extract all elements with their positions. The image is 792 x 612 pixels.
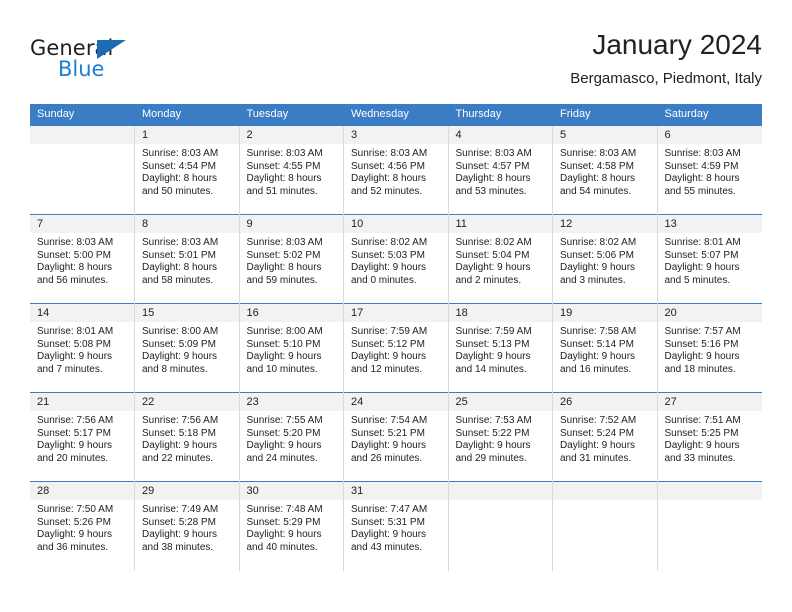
daylight-text-line2: and 52 minutes. [351,186,442,199]
daylight-text-line1: Daylight: 8 hours [142,173,233,186]
sunset-text: Sunset: 5:24 PM [560,428,651,441]
calendar-day-cell[interactable]: 8Sunrise: 8:03 AMSunset: 5:01 PMDaylight… [135,215,240,304]
sunset-text: Sunset: 5:29 PM [247,517,338,530]
day-number: 28 [30,482,134,500]
day-info: Sunrise: 7:47 AMSunset: 5:31 PMDaylight:… [344,500,448,554]
calendar-week-row: 14Sunrise: 8:01 AMSunset: 5:08 PMDayligh… [30,304,762,393]
day-info: Sunrise: 7:56 AMSunset: 5:17 PMDaylight:… [30,411,134,465]
sunrise-text: Sunrise: 7:56 AM [37,415,128,428]
daylight-text-line1: Daylight: 9 hours [142,351,233,364]
daylight-text-line2: and 50 minutes. [142,186,233,199]
weekday-header-friday: Friday [553,104,658,126]
title-block: January 2024 Bergamasco, Piedmont, Italy [570,28,762,90]
sunset-text: Sunset: 5:28 PM [142,517,233,530]
sunrise-text: Sunrise: 7:59 AM [351,326,442,339]
sunrise-text: Sunrise: 8:03 AM [247,237,338,250]
sunset-text: Sunset: 5:06 PM [560,250,651,263]
day-info: Sunrise: 8:03 AMSunset: 4:54 PMDaylight:… [135,144,239,198]
daylight-text-line1: Daylight: 8 hours [247,173,338,186]
sunset-text: Sunset: 5:18 PM [142,428,233,441]
day-info: Sunrise: 7:57 AMSunset: 5:16 PMDaylight:… [658,322,762,376]
daylight-text-line2: and 0 minutes. [351,275,442,288]
day-number: 3 [344,126,448,144]
sunset-text: Sunset: 5:14 PM [560,339,651,352]
daylight-text-line1: Daylight: 8 hours [456,173,547,186]
day-info: Sunrise: 8:03 AMSunset: 4:58 PMDaylight:… [553,144,657,198]
daylight-text-line2: and 14 minutes. [456,364,547,377]
sunrise-text: Sunrise: 8:03 AM [560,148,651,161]
sunrise-text: Sunrise: 8:01 AM [37,326,128,339]
calendar-day-cell[interactable]: 26Sunrise: 7:52 AMSunset: 5:24 PMDayligh… [553,393,658,482]
sunrise-text: Sunrise: 7:57 AM [665,326,756,339]
daylight-text-line2: and 3 minutes. [560,275,651,288]
daylight-text-line1: Daylight: 8 hours [665,173,756,186]
sunset-text: Sunset: 4:56 PM [351,161,442,174]
day-number: 27 [658,393,762,411]
day-number: 17 [344,304,448,322]
day-info: Sunrise: 8:03 AMSunset: 4:59 PMDaylight:… [658,144,762,198]
day-info: Sunrise: 8:00 AMSunset: 5:10 PMDaylight:… [240,322,344,376]
day-number [30,126,134,144]
sunrise-text: Sunrise: 8:03 AM [37,237,128,250]
sunrise-text: Sunrise: 7:58 AM [560,326,651,339]
calendar-day-cell[interactable]: 15Sunrise: 8:00 AMSunset: 5:09 PMDayligh… [135,304,240,393]
calendar-day-cell[interactable]: 9Sunrise: 8:03 AMSunset: 5:02 PMDaylight… [239,215,344,304]
sunrise-text: Sunrise: 7:48 AM [247,504,338,517]
calendar-day-cell[interactable]: 19Sunrise: 7:58 AMSunset: 5:14 PMDayligh… [553,304,658,393]
sunset-text: Sunset: 5:12 PM [351,339,442,352]
calendar-day-cell[interactable]: 17Sunrise: 7:59 AMSunset: 5:12 PMDayligh… [344,304,449,393]
day-number: 19 [553,304,657,322]
page-header: General Blue January 2024 Bergamasco, Pi… [30,28,762,100]
weekday-header-monday: Monday [135,104,240,126]
sunrise-text: Sunrise: 8:02 AM [560,237,651,250]
day-number: 29 [135,482,239,500]
daylight-text-line1: Daylight: 8 hours [37,262,128,275]
day-number: 5 [553,126,657,144]
daylight-text-line1: Daylight: 9 hours [665,262,756,275]
sunrise-text: Sunrise: 7:54 AM [351,415,442,428]
calendar-week-row: 28Sunrise: 7:50 AMSunset: 5:26 PMDayligh… [30,482,762,571]
day-number [553,482,657,500]
sunrise-text: Sunrise: 7:47 AM [351,504,442,517]
daylight-text-line2: and 59 minutes. [247,275,338,288]
day-number: 23 [240,393,344,411]
daylight-text-line1: Daylight: 9 hours [37,351,128,364]
daylight-text-line2: and 18 minutes. [665,364,756,377]
daylight-text-line2: and 12 minutes. [351,364,442,377]
day-info: Sunrise: 8:01 AMSunset: 5:08 PMDaylight:… [30,322,134,376]
day-info: Sunrise: 8:02 AMSunset: 5:06 PMDaylight:… [553,233,657,287]
day-info: Sunrise: 8:03 AMSunset: 4:55 PMDaylight:… [240,144,344,198]
daylight-text-line2: and 20 minutes. [37,453,128,466]
weekday-header-tuesday: Tuesday [239,104,344,126]
calendar-day-cell[interactable]: 24Sunrise: 7:54 AMSunset: 5:21 PMDayligh… [344,393,449,482]
day-number: 22 [135,393,239,411]
daylight-text-line1: Daylight: 9 hours [37,440,128,453]
day-info: Sunrise: 7:59 AMSunset: 5:13 PMDaylight:… [449,322,553,376]
daylight-text-line2: and 43 minutes. [351,542,442,555]
day-number: 6 [658,126,762,144]
sunset-text: Sunset: 5:26 PM [37,517,128,530]
daylight-text-line1: Daylight: 9 hours [351,262,442,275]
daylight-text-line2: and 31 minutes. [560,453,651,466]
daylight-text-line1: Daylight: 9 hours [351,529,442,542]
daylight-text-line1: Daylight: 9 hours [247,351,338,364]
daylight-text-line2: and 33 minutes. [665,453,756,466]
sunset-text: Sunset: 4:57 PM [456,161,547,174]
daylight-text-line1: Daylight: 8 hours [560,173,651,186]
day-number: 10 [344,215,448,233]
daylight-text-line2: and 53 minutes. [456,186,547,199]
day-info: Sunrise: 8:02 AMSunset: 5:04 PMDaylight:… [449,233,553,287]
day-info: Sunrise: 8:03 AMSunset: 5:00 PMDaylight:… [30,233,134,287]
day-info: Sunrise: 8:03 AMSunset: 4:57 PMDaylight:… [449,144,553,198]
daylight-text-line1: Daylight: 9 hours [560,262,651,275]
day-number: 18 [449,304,553,322]
daylight-text-line2: and 24 minutes. [247,453,338,466]
day-number: 7 [30,215,134,233]
logo-word-blue: Blue [58,57,104,81]
sunrise-text: Sunrise: 8:03 AM [351,148,442,161]
day-number: 26 [553,393,657,411]
sunset-text: Sunset: 5:17 PM [37,428,128,441]
sunrise-text: Sunrise: 8:01 AM [665,237,756,250]
calendar-day-cell-empty [657,482,762,571]
sunset-text: Sunset: 5:03 PM [351,250,442,263]
day-info: Sunrise: 8:02 AMSunset: 5:03 PMDaylight:… [344,233,448,287]
sunrise-text: Sunrise: 8:03 AM [665,148,756,161]
calendar-grid: Sunday Monday Tuesday Wednesday Thursday… [30,104,762,571]
calendar-day-cell[interactable]: 6Sunrise: 8:03 AMSunset: 4:59 PMDaylight… [657,126,762,215]
day-number [658,482,762,500]
sunrise-text: Sunrise: 7:52 AM [560,415,651,428]
daylight-text-line2: and 40 minutes. [247,542,338,555]
sunset-text: Sunset: 5:20 PM [247,428,338,441]
daylight-text-line2: and 29 minutes. [456,453,547,466]
day-number: 12 [553,215,657,233]
daylight-text-line2: and 58 minutes. [142,275,233,288]
calendar-day-cell[interactable]: 20Sunrise: 7:57 AMSunset: 5:16 PMDayligh… [657,304,762,393]
daylight-text-line2: and 38 minutes. [142,542,233,555]
sunrise-text: Sunrise: 8:00 AM [247,326,338,339]
day-number: 15 [135,304,239,322]
day-number: 30 [240,482,344,500]
calendar-body: 1Sunrise: 8:03 AMSunset: 4:54 PMDaylight… [30,126,762,571]
sunrise-text: Sunrise: 7:51 AM [665,415,756,428]
day-number: 24 [344,393,448,411]
calendar-day-cell-empty [30,126,135,215]
day-info: Sunrise: 7:54 AMSunset: 5:21 PMDaylight:… [344,411,448,465]
daylight-text-line1: Daylight: 9 hours [456,440,547,453]
calendar-day-cell[interactable]: 4Sunrise: 8:03 AMSunset: 4:57 PMDaylight… [448,126,553,215]
day-info: Sunrise: 7:55 AMSunset: 5:20 PMDaylight:… [240,411,344,465]
sunrise-text: Sunrise: 8:03 AM [247,148,338,161]
daylight-text-line2: and 2 minutes. [456,275,547,288]
sunrise-text: Sunrise: 7:49 AM [142,504,233,517]
calendar-day-cell-empty [553,482,658,571]
daylight-text-line2: and 8 minutes. [142,364,233,377]
day-info: Sunrise: 7:58 AMSunset: 5:14 PMDaylight:… [553,322,657,376]
weekday-header-thursday: Thursday [448,104,553,126]
day-number: 4 [449,126,553,144]
day-number: 20 [658,304,762,322]
daylight-text-line1: Daylight: 9 hours [456,351,547,364]
daylight-text-line1: Daylight: 9 hours [247,440,338,453]
calendar-day-cell[interactable]: 12Sunrise: 8:02 AMSunset: 5:06 PMDayligh… [553,215,658,304]
sunrise-text: Sunrise: 8:02 AM [456,237,547,250]
day-number: 11 [449,215,553,233]
sunset-text: Sunset: 4:54 PM [142,161,233,174]
day-info: Sunrise: 8:01 AMSunset: 5:07 PMDaylight:… [658,233,762,287]
sunset-text: Sunset: 4:55 PM [247,161,338,174]
sunset-text: Sunset: 5:01 PM [142,250,233,263]
day-number: 2 [240,126,344,144]
daylight-text-line1: Daylight: 8 hours [142,262,233,275]
daylight-text-line2: and 55 minutes. [665,186,756,199]
daylight-text-line1: Daylight: 9 hours [665,351,756,364]
daylight-text-line2: and 22 minutes. [142,453,233,466]
calendar-day-cell[interactable]: 2Sunrise: 8:03 AMSunset: 4:55 PMDaylight… [239,126,344,215]
calendar-day-cell[interactable]: 5Sunrise: 8:03 AMSunset: 4:58 PMDaylight… [553,126,658,215]
calendar-day-cell[interactable]: 23Sunrise: 7:55 AMSunset: 5:20 PMDayligh… [239,393,344,482]
daylight-text-line1: Daylight: 9 hours [560,351,651,364]
daylight-text-line1: Daylight: 9 hours [37,529,128,542]
day-number: 13 [658,215,762,233]
sunset-text: Sunset: 5:04 PM [456,250,547,263]
sunrise-text: Sunrise: 7:59 AM [456,326,547,339]
day-number: 8 [135,215,239,233]
sunset-text: Sunset: 5:16 PM [665,339,756,352]
day-number: 21 [30,393,134,411]
daylight-text-line1: Daylight: 9 hours [351,351,442,364]
day-info: Sunrise: 7:53 AMSunset: 5:22 PMDaylight:… [449,411,553,465]
calendar-day-cell[interactable]: 22Sunrise: 7:56 AMSunset: 5:18 PMDayligh… [135,393,240,482]
day-number: 25 [449,393,553,411]
weekday-header-saturday: Saturday [657,104,762,126]
daylight-text-line1: Daylight: 8 hours [247,262,338,275]
day-info: Sunrise: 7:48 AMSunset: 5:29 PMDaylight:… [240,500,344,554]
sunset-text: Sunset: 4:59 PM [665,161,756,174]
sunset-text: Sunset: 5:00 PM [37,250,128,263]
daylight-text-line2: and 10 minutes. [247,364,338,377]
day-number: 16 [240,304,344,322]
day-number: 1 [135,126,239,144]
sunset-text: Sunset: 5:07 PM [665,250,756,263]
daylight-text-line2: and 56 minutes. [37,275,128,288]
calendar-week-row: 1Sunrise: 8:03 AMSunset: 4:54 PMDaylight… [30,126,762,215]
calendar-day-cell[interactable]: 3Sunrise: 8:03 AMSunset: 4:56 PMDaylight… [344,126,449,215]
calendar-page: General Blue January 2024 Bergamasco, Pi… [0,0,792,612]
sunrise-text: Sunrise: 8:03 AM [142,237,233,250]
day-info: Sunrise: 7:49 AMSunset: 5:28 PMDaylight:… [135,500,239,554]
sunset-text: Sunset: 5:25 PM [665,428,756,441]
calendar-week-row: 21Sunrise: 7:56 AMSunset: 5:17 PMDayligh… [30,393,762,482]
day-info: Sunrise: 7:51 AMSunset: 5:25 PMDaylight:… [658,411,762,465]
sunrise-text: Sunrise: 8:00 AM [142,326,233,339]
calendar-day-cell[interactable]: 25Sunrise: 7:53 AMSunset: 5:22 PMDayligh… [448,393,553,482]
general-blue-logo: General Blue [30,36,160,90]
day-info: Sunrise: 7:50 AMSunset: 5:26 PMDaylight:… [30,500,134,554]
day-number [449,482,553,500]
daylight-text-line1: Daylight: 9 hours [560,440,651,453]
daylight-text-line2: and 5 minutes. [665,275,756,288]
calendar-day-cell[interactable]: 1Sunrise: 8:03 AMSunset: 4:54 PMDaylight… [135,126,240,215]
daylight-text-line1: Daylight: 9 hours [142,529,233,542]
daylight-text-line1: Daylight: 9 hours [247,529,338,542]
daylight-text-line2: and 51 minutes. [247,186,338,199]
daylight-text-line1: Daylight: 9 hours [142,440,233,453]
sunset-text: Sunset: 5:13 PM [456,339,547,352]
sunrise-text: Sunrise: 7:56 AM [142,415,233,428]
sunset-text: Sunset: 5:02 PM [247,250,338,263]
daylight-text-line1: Daylight: 9 hours [665,440,756,453]
page-title: January 2024 [570,28,762,62]
day-info: Sunrise: 8:00 AMSunset: 5:09 PMDaylight:… [135,322,239,376]
day-info: Sunrise: 8:03 AMSunset: 4:56 PMDaylight:… [344,144,448,198]
sunrise-text: Sunrise: 7:50 AM [37,504,128,517]
calendar-day-cell[interactable]: 10Sunrise: 8:02 AMSunset: 5:03 PMDayligh… [344,215,449,304]
daylight-text-line1: Daylight: 9 hours [351,440,442,453]
sunset-text: Sunset: 4:58 PM [560,161,651,174]
sunset-text: Sunset: 5:08 PM [37,339,128,352]
calendar-week-row: 7Sunrise: 8:03 AMSunset: 5:00 PMDaylight… [30,215,762,304]
daylight-text-line2: and 36 minutes. [37,542,128,555]
calendar-day-cell[interactable]: 31Sunrise: 7:47 AMSunset: 5:31 PMDayligh… [344,482,449,571]
calendar-day-cell[interactable]: 30Sunrise: 7:48 AMSunset: 5:29 PMDayligh… [239,482,344,571]
daylight-text-line2: and 16 minutes. [560,364,651,377]
calendar-day-cell[interactable]: 14Sunrise: 8:01 AMSunset: 5:08 PMDayligh… [30,304,135,393]
calendar-day-cell[interactable]: 27Sunrise: 7:51 AMSunset: 5:25 PMDayligh… [657,393,762,482]
day-info: Sunrise: 8:03 AMSunset: 5:02 PMDaylight:… [240,233,344,287]
sunset-text: Sunset: 5:09 PM [142,339,233,352]
daylight-text-line2: and 7 minutes. [37,364,128,377]
calendar-table: Sunday Monday Tuesday Wednesday Thursday… [30,104,762,571]
weekday-header-sunday: Sunday [30,104,135,126]
sunrise-text: Sunrise: 7:53 AM [456,415,547,428]
weekday-header-wednesday: Wednesday [344,104,449,126]
calendar-day-cell[interactable]: 7Sunrise: 8:03 AMSunset: 5:00 PMDaylight… [30,215,135,304]
sunset-text: Sunset: 5:21 PM [351,428,442,441]
calendar-day-cell[interactable]: 21Sunrise: 7:56 AMSunset: 5:17 PMDayligh… [30,393,135,482]
calendar-day-cell[interactable]: 29Sunrise: 7:49 AMSunset: 5:28 PMDayligh… [135,482,240,571]
calendar-day-cell[interactable]: 18Sunrise: 7:59 AMSunset: 5:13 PMDayligh… [448,304,553,393]
sunrise-text: Sunrise: 7:55 AM [247,415,338,428]
calendar-day-cell[interactable]: 16Sunrise: 8:00 AMSunset: 5:10 PMDayligh… [239,304,344,393]
day-number: 9 [240,215,344,233]
sunrise-text: Sunrise: 8:03 AM [456,148,547,161]
calendar-day-cell[interactable]: 11Sunrise: 8:02 AMSunset: 5:04 PMDayligh… [448,215,553,304]
sunset-text: Sunset: 5:31 PM [351,517,442,530]
daylight-text-line1: Daylight: 9 hours [456,262,547,275]
calendar-day-cell[interactable]: 28Sunrise: 7:50 AMSunset: 5:26 PMDayligh… [30,482,135,571]
daylight-text-line2: and 26 minutes. [351,453,442,466]
day-info: Sunrise: 7:52 AMSunset: 5:24 PMDaylight:… [553,411,657,465]
calendar-day-cell-empty [448,482,553,571]
day-info: Sunrise: 7:56 AMSunset: 5:18 PMDaylight:… [135,411,239,465]
day-info: Sunrise: 8:03 AMSunset: 5:01 PMDaylight:… [135,233,239,287]
page-subtitle: Bergamasco, Piedmont, Italy [570,68,762,90]
calendar-header-row: Sunday Monday Tuesday Wednesday Thursday… [30,104,762,126]
calendar-day-cell[interactable]: 13Sunrise: 8:01 AMSunset: 5:07 PMDayligh… [657,215,762,304]
daylight-text-line2: and 54 minutes. [560,186,651,199]
sunset-text: Sunset: 5:22 PM [456,428,547,441]
daylight-text-line1: Daylight: 8 hours [351,173,442,186]
sunrise-text: Sunrise: 8:02 AM [351,237,442,250]
day-info: Sunrise: 7:59 AMSunset: 5:12 PMDaylight:… [344,322,448,376]
sunset-text: Sunset: 5:10 PM [247,339,338,352]
day-number: 31 [344,482,448,500]
day-number: 14 [30,304,134,322]
sunrise-text: Sunrise: 8:03 AM [142,148,233,161]
